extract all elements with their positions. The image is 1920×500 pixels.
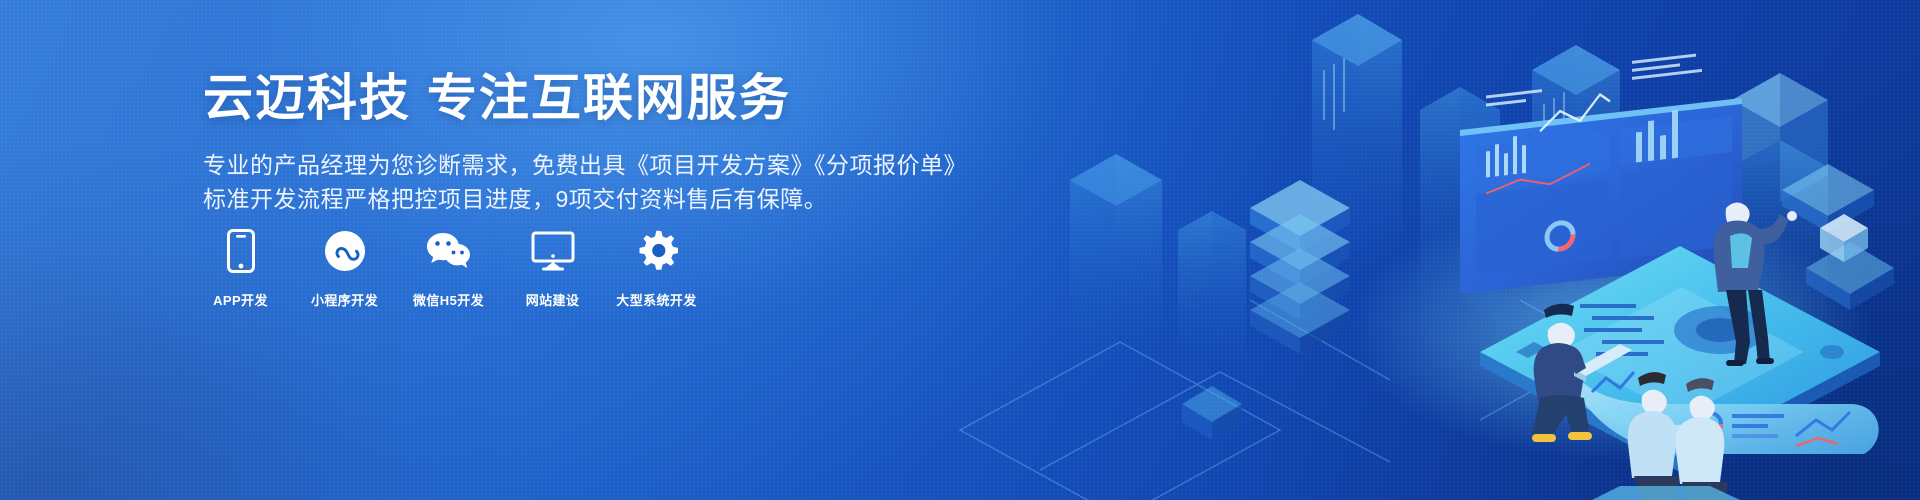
mini-program-icon xyxy=(324,228,366,274)
mobile-phone-icon xyxy=(227,228,255,274)
floating-cube xyxy=(1182,386,1242,440)
service-label: 网站建设 xyxy=(526,290,580,309)
monitor-icon xyxy=(531,228,575,274)
service-item-mini-program[interactable]: 小程序开发 xyxy=(307,228,382,309)
service-label: 微信H5开发 xyxy=(413,290,484,309)
gear-icon xyxy=(636,228,678,274)
service-label: 大型系统开发 xyxy=(616,290,696,309)
service-list: APP开发 小程序开发 微信 xyxy=(203,228,694,309)
isometric-data-platform-illustration xyxy=(920,0,1920,500)
page-title: 云迈科技 专注互联网服务 xyxy=(203,70,963,126)
banner-text-block: 云迈科技 专注互联网服务 专业的产品经理为您诊断需求，免费出具《项目开发方案》《… xyxy=(203,70,963,216)
subtitle-line-2: 标准开发流程严格把控项目进度，9项交付资料售后有保障。 xyxy=(203,182,963,216)
subtitle-block: 专业的产品经理为您诊断需求，免费出具《项目开发方案》《分项报价单》 标准开发流程… xyxy=(203,148,963,216)
server-stack xyxy=(1250,180,1350,354)
service-item-wechat-h5[interactable]: 微信H5开发 xyxy=(411,228,486,309)
service-item-website[interactable]: 网站建设 xyxy=(515,228,590,309)
service-label: 小程序开发 xyxy=(311,290,378,309)
service-label: APP开发 xyxy=(213,290,268,309)
hero-banner: 云迈科技 专注互联网服务 专业的产品经理为您诊断需求，免费出具《项目开发方案》《… xyxy=(0,0,1920,500)
service-item-app[interactable]: APP开发 xyxy=(203,228,278,309)
wechat-icon xyxy=(426,228,472,274)
service-item-large-system[interactable]: 大型系统开发 xyxy=(619,228,694,309)
subtitle-line-1: 专业的产品经理为您诊断需求，免费出具《项目开发方案》《分项报价单》 xyxy=(203,148,963,182)
